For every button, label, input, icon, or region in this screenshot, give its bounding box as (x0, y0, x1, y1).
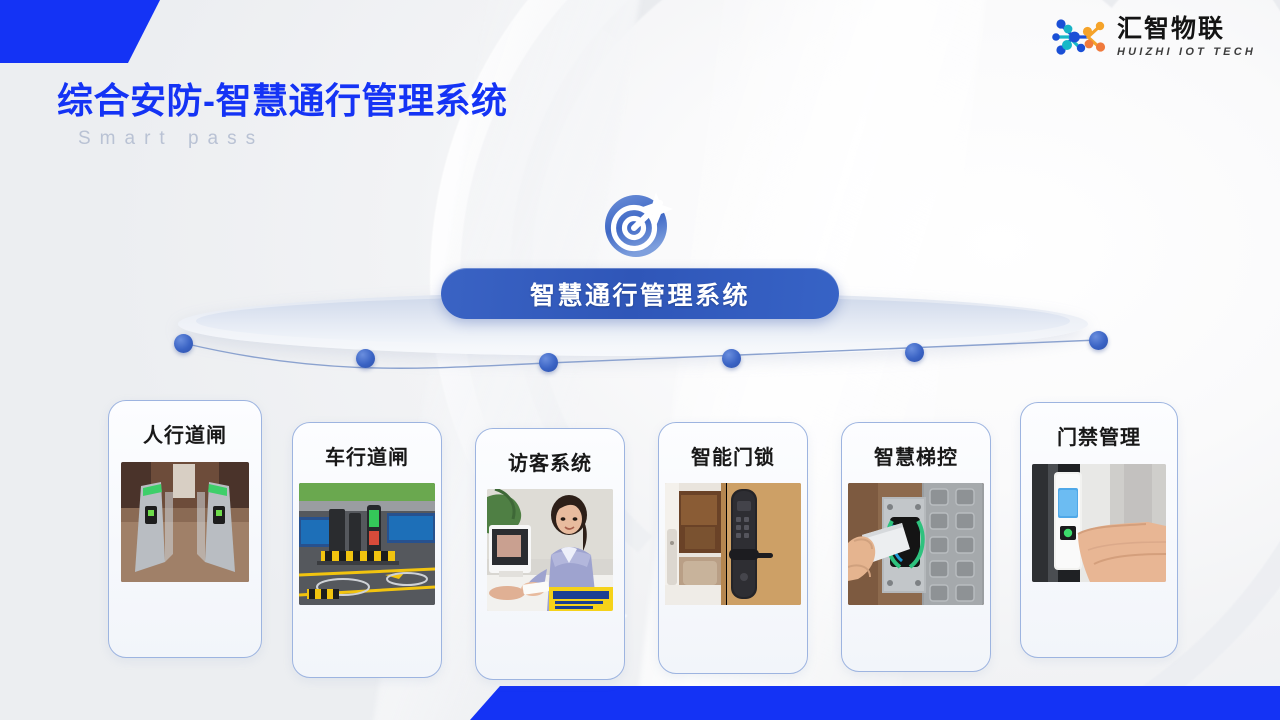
slide-canvas: 综合安防-智慧通行管理系统 Smart pass (0, 0, 1280, 720)
card-smart-lock[interactable]: 智能门锁 (658, 422, 808, 674)
card-title: 智慧梯控 (874, 441, 958, 470)
target-arrow-icon (598, 188, 684, 260)
card-title: 人行道闸 (143, 419, 227, 448)
card-vehicle-gate[interactable]: 车行道闸 (292, 422, 442, 678)
card-elevator-control[interactable]: 智慧梯控 (841, 422, 991, 672)
connector-node-5 (905, 343, 924, 362)
fingerprint-access-terminal-photo (1032, 464, 1166, 582)
connector-node-2 (356, 349, 375, 368)
smart-door-lock-photo (665, 483, 801, 605)
page-subtitle: Smart pass (78, 128, 264, 150)
card-title: 门禁管理 (1057, 421, 1141, 450)
connector-node-1 (174, 334, 193, 353)
connector-node-4 (722, 349, 741, 368)
card-visitor-system[interactable]: 访客系统 (475, 428, 625, 680)
vehicle-barrier-gate-photo (299, 483, 435, 605)
card-title: 访客系统 (508, 447, 592, 476)
card-title: 车行道闸 (325, 441, 409, 470)
card-access-control[interactable]: 门禁管理 (1020, 402, 1178, 658)
card-title: 智能门锁 (691, 441, 775, 470)
visitor-reception-desk-photo (487, 489, 613, 611)
page-title: 综合安防-智慧通行管理系统 (57, 72, 508, 124)
bottom-right-accent-bar (470, 686, 1280, 720)
connector-node-3 (539, 353, 558, 372)
elevator-card-reader-photo (848, 483, 984, 605)
logo-name-en: HUIZHI IOT TECH (1117, 47, 1256, 58)
molecule-network-icon (1050, 14, 1108, 60)
connector-node-6 (1089, 331, 1108, 350)
logo-name-cn: 汇智物联 (1117, 17, 1256, 42)
pedestrian-turnstile-photo (121, 462, 249, 582)
brand-logo: 汇智物联 HUIZHI IOT TECH (1050, 14, 1256, 60)
card-pedestrian-gate[interactable]: 人行道闸 (108, 400, 262, 658)
